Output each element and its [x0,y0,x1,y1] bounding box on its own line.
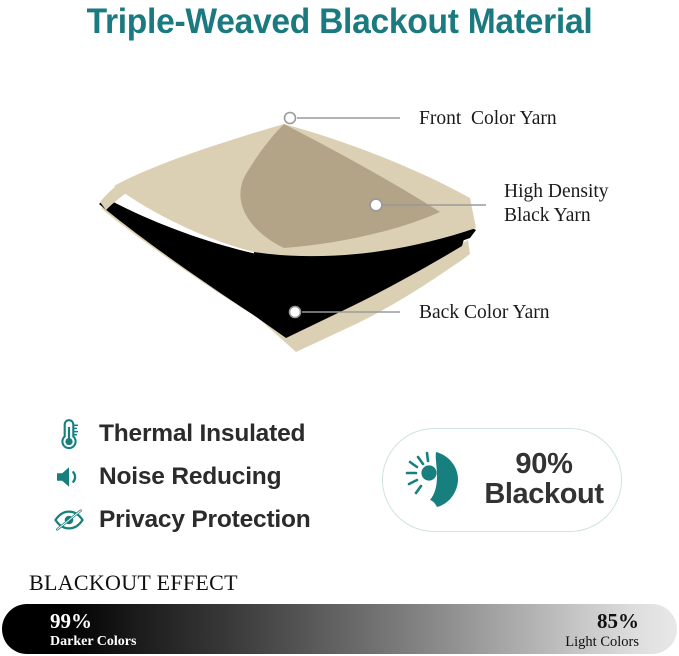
badge-text-block: 90% Blackout [473,449,621,511]
feature-list: Thermal Insulated Noise Reducing Privacy… [50,412,370,541]
sun-blocked-by-curtain-icon [401,447,473,513]
sun-disc [421,465,436,480]
badge-percent: 90% [473,449,615,479]
callout-label-front-color-yarn: Front Color Yarn [419,107,557,131]
blackout-effect-gradient-bar: 99% Darker Colors 85% Light Colors [2,604,677,654]
speaker-sound-icon [50,459,88,495]
gradient-left-caption: Darker Colors [50,634,136,650]
thermometer-icon [50,416,88,452]
curtain-shade [430,452,458,507]
blackout-percentage-badge: 90% Blackout [382,428,622,532]
fabric-diagram: Front Color Yarn High DensityBlack Yarn … [0,62,679,362]
feature-label: Thermal Insulated [99,420,305,448]
callout-label-line1: High Density [504,181,609,202]
page-title: Triple-Weaved Blackout Material [14,2,666,42]
feature-item-thermal-insulated: Thermal Insulated [50,412,370,455]
badge-word: Blackout [473,479,615,511]
feature-label: Privacy Protection [99,506,311,534]
gradient-right-stat: 85% Light Colors [565,610,639,650]
gradient-left-stat: 99% Darker Colors [50,610,136,650]
feature-item-noise-reducing: Noise Reducing [50,455,370,498]
gradient-right-caption: Light Colors [565,634,639,651]
callout-dot-icon [290,307,301,318]
feature-label: Noise Reducing [99,463,281,491]
callout-label-back-color-yarn: Back Color Yarn [419,301,550,325]
feature-item-privacy-protection: Privacy Protection [50,498,370,541]
callout-label-line2: Black Yarn [504,205,591,226]
callout-label-high-density-black-yarn: High DensityBlack Yarn [504,180,609,228]
gradient-right-percent: 85% [565,610,639,634]
eye-slash-icon [50,502,88,538]
callout-dot-icon [370,199,382,211]
gradient-left-percent: 99% [50,610,136,634]
callout-dot-icon [285,113,296,124]
blackout-effect-heading: BLACKOUT EFFECT [29,570,238,596]
